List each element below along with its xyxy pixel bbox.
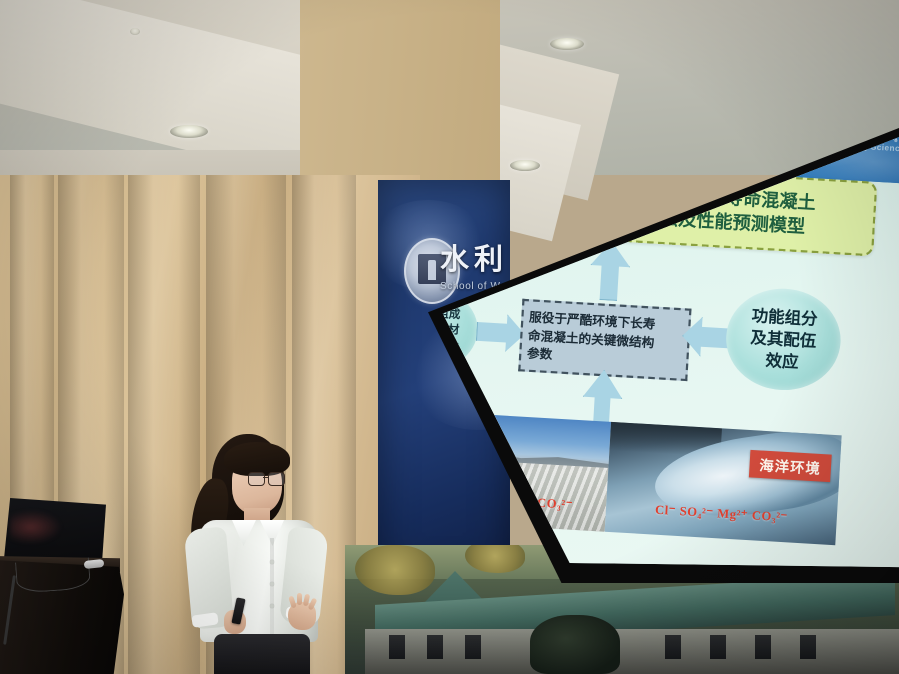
shirt-collar-left [232,520,256,546]
ceiling-downlight-5 [510,160,540,171]
presenter-hand-right [288,602,316,630]
hand-finger [297,593,302,605]
ellipse-right-line-2: 及其配伍 [750,326,817,352]
shirt-placket [270,538,274,642]
seal-door-glyph [428,260,436,280]
backdrop-foreground-tree [530,615,620,674]
shirt-button [270,582,274,586]
ceiling-downlight-1 [170,125,208,138]
backdrop-window [427,635,443,659]
photo-label-marine: 海洋环境 [749,450,832,482]
presenter-trousers [214,634,310,674]
backdrop-building-wall [365,629,899,674]
backdrop-window [665,635,681,659]
ceiling-downlight-4 [130,28,140,35]
photo-marine-environment: 海洋环境 Cl⁻ SO₄²⁻ Mg²⁺ CO₃²⁻ [605,422,842,545]
presenter [176,432,346,674]
ellipse-right-node: 功能组分 及其配伍 效应 [723,286,843,394]
shirt-button [270,560,274,564]
backdrop-window [755,635,771,659]
backdrop-window [465,635,481,659]
glasses-lens-left [248,472,265,486]
backdrop-window [800,635,816,659]
ellipse-right-line-3: 效应 [748,349,815,375]
glasses-lens-right [268,472,285,486]
key-parameters-text: 服役于严酷环境下长寿 命混凝土的关键微结构 参数 [521,305,662,372]
backdrop-tree-1 [355,545,435,595]
shirt-button [270,604,274,608]
key-parameters-box: 服役于严酷环境下长寿 命混凝土的关键微结构 参数 [518,299,691,381]
presenter-fringe [224,442,290,476]
backdrop-window [710,635,726,659]
backdrop-window [389,635,405,659]
conference-room-photo: 水利 School of Water... [0,0,899,674]
arrow-right-from-left-node-icon [475,313,526,353]
ceiling-downlight-3 [550,38,584,50]
ellipse-right-text: 功能组分 及其配伍 效应 [748,304,818,375]
presenter-glasses-icon [248,472,286,484]
laptop-screen-glow [10,510,62,544]
banner-chinese-title: 水利 [440,236,508,278]
